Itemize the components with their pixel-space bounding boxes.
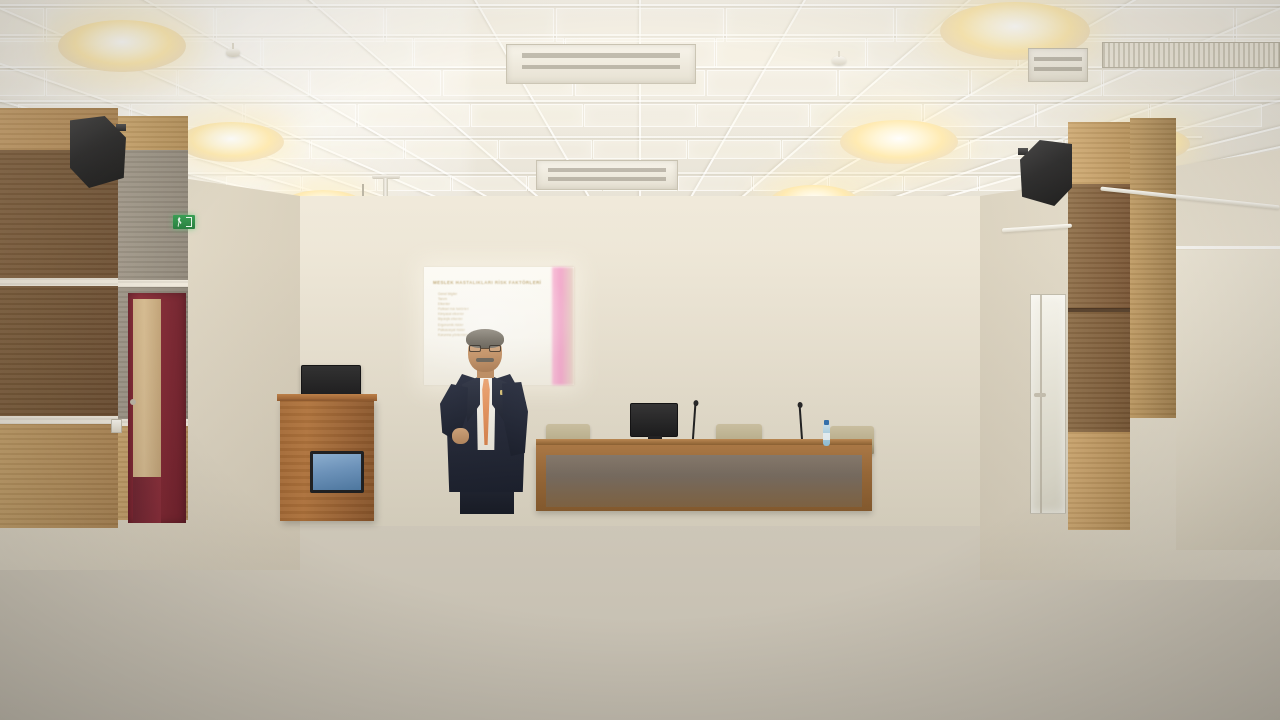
ceiling-tile: [1235, 70, 1280, 96]
ceiling-tile: [584, 104, 696, 127]
ceiling-tile: [310, 70, 441, 96]
ceiling-tile: [452, 176, 526, 191]
emergency-exit-sign-icon: [173, 215, 195, 229]
ceiling-tile: [1103, 70, 1234, 96]
glasses-icon: [469, 345, 501, 352]
ceiling-tile: [471, 104, 583, 127]
speaker-icon: [1020, 140, 1072, 206]
ceiling-grid-line: [0, 100, 1280, 102]
ceiling-tile: [178, 70, 309, 96]
smoke-detector-icon: [832, 56, 846, 65]
ceiling-tile: [593, 140, 686, 159]
ceiling-tile: [1236, 8, 1280, 42]
lecture-hall-photo: MESLEK HASTALIKLARI RİSK FAKTÖRLERİ Gene…: [0, 0, 1280, 720]
ceiling-tile: [556, 8, 724, 42]
smoke-detector-icon: [226, 48, 240, 57]
ceiling-tile: [688, 140, 781, 159]
wall-trim: [1176, 246, 1280, 249]
audience: [0, 400, 1280, 720]
ceiling-tile: [499, 140, 592, 159]
ac-grille: [1102, 42, 1280, 68]
ceiling-tile: [1066, 8, 1234, 42]
ceiling-tile: [46, 70, 177, 96]
ceiling-tile: [0, 70, 45, 96]
ceiling-grid-line: [0, 4, 1280, 6]
ceiling-tile: [216, 8, 384, 42]
ceiling-tile: [405, 140, 498, 159]
wood-panel-column-right-outer: [1130, 118, 1176, 418]
ceiling-light: [178, 122, 284, 162]
ceiling-tile: [707, 70, 838, 96]
ceiling-tile: [839, 70, 970, 96]
ceiling-tile: [697, 104, 809, 127]
ceiling-tile: [924, 104, 1036, 127]
ceiling-tile: [386, 8, 554, 42]
window-handle-icon[interactable]: [1034, 393, 1046, 397]
ac-vent: [506, 44, 696, 84]
ac-vent: [536, 160, 678, 190]
ceiling-tile: [678, 176, 752, 191]
ceiling-tile: [726, 8, 894, 42]
ceiling-tile: [263, 38, 412, 68]
ac-vent: [1028, 48, 1088, 82]
ceiling-light: [58, 20, 186, 72]
ceiling-tile: [245, 104, 357, 127]
ceiling-light: [840, 120, 958, 164]
ceiling-tile: [904, 176, 978, 191]
speaker-icon: [70, 116, 126, 188]
ceiling-tile: [311, 140, 404, 159]
ceiling-tile: [0, 8, 44, 42]
ceiling-tile: [358, 104, 470, 127]
